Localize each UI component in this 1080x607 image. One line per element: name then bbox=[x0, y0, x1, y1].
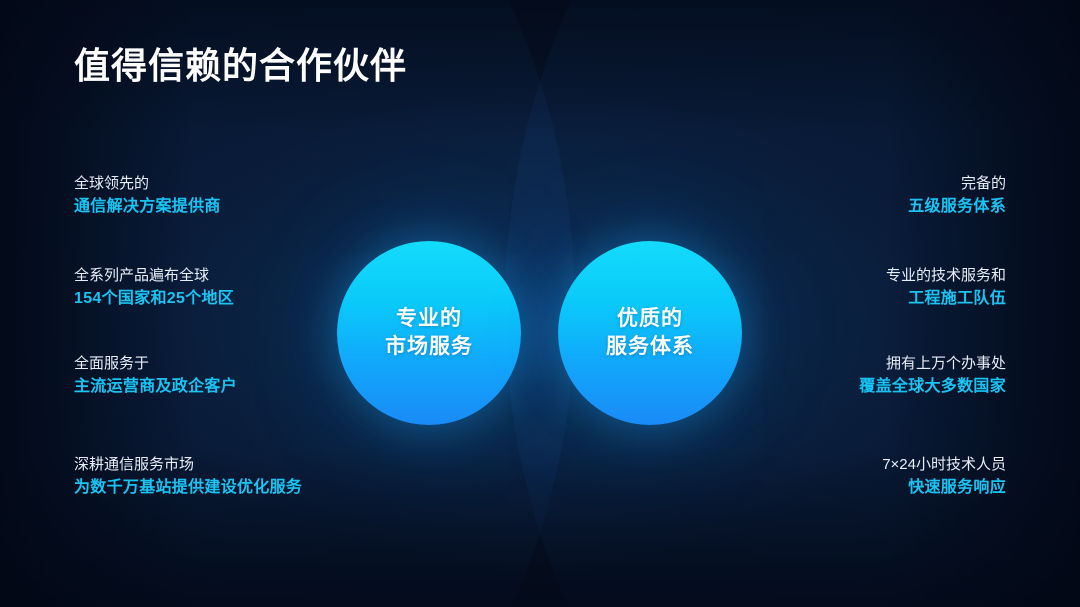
right-block-4-lead: 7×24小时技术人员 bbox=[586, 453, 1006, 476]
left-block-1-lead: 全球领先的 bbox=[74, 172, 494, 195]
right-block-4-highlight: 快速服务响应 bbox=[586, 476, 1006, 501]
left-block-1-highlight: 通信解决方案提供商 bbox=[74, 195, 494, 220]
circle-market-service: 专业的 市场服务 bbox=[337, 241, 521, 425]
left-block-1: 全球领先的 通信解决方案提供商 bbox=[74, 172, 494, 220]
right-block-4: 7×24小时技术人员 快速服务响应 bbox=[586, 453, 1006, 501]
left-block-4-lead: 深耕通信服务市场 bbox=[74, 453, 494, 476]
left-block-4-highlight: 为数千万基站提供建设优化服务 bbox=[74, 476, 494, 501]
circle-1-line-1: 专业的 bbox=[396, 305, 462, 333]
circle-2-line-2: 服务体系 bbox=[606, 333, 694, 361]
left-block-4: 深耕通信服务市场 为数千万基站提供建设优化服务 bbox=[74, 453, 494, 501]
page-title: 值得信赖的合作伙伴 bbox=[74, 37, 407, 89]
slide-canvas: 值得信赖的合作伙伴 全球领先的 通信解决方案提供商 全系列产品遍布全球 154个… bbox=[0, 0, 1080, 607]
circle-service-system: 优质的 服务体系 bbox=[558, 241, 742, 425]
right-block-1-highlight: 五级服务体系 bbox=[586, 195, 1006, 220]
circle-2-line-1: 优质的 bbox=[617, 305, 683, 333]
right-block-1: 完备的 五级服务体系 bbox=[586, 172, 1006, 220]
right-block-1-lead: 完备的 bbox=[586, 172, 1006, 195]
circle-1-line-2: 市场服务 bbox=[385, 333, 473, 361]
